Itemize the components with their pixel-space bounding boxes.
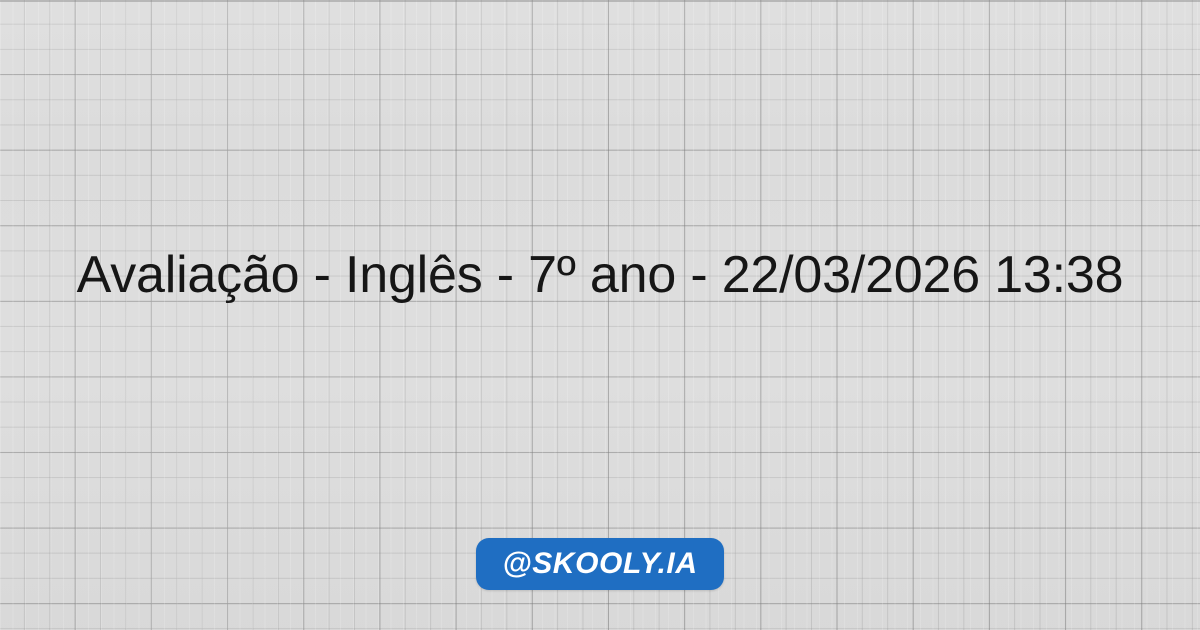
grid-fine-lines [0, 0, 1200, 630]
watermark-badge-label: @SKOOLY.IA [502, 549, 697, 579]
paper-shading-overlay [0, 0, 1200, 630]
grid-texture-streaks [0, 0, 1200, 630]
watermark-badge[interactable]: @SKOOLY.IA [476, 538, 723, 590]
watermark-row: @SKOOLY.IA [0, 538, 1200, 590]
grid-top-edge-line [0, 0, 1200, 2]
graph-paper-background [0, 0, 1200, 630]
page-title-text: Avaliação - Inglês - 7º ano - 22/03/2026… [40, 246, 1160, 304]
grid-major-lines [0, 0, 1200, 630]
page-title: Avaliação - Inglês - 7º ano - 22/03/2026… [0, 246, 1200, 304]
share-card: Avaliação - Inglês - 7º ano - 22/03/2026… [0, 0, 1200, 630]
